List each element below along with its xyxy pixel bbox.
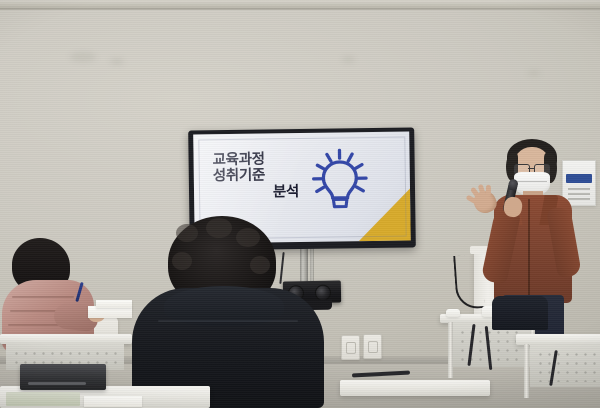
papers xyxy=(84,396,142,407)
glasses-bridge xyxy=(528,168,534,169)
slide-title-line-3: 분석 xyxy=(213,184,299,202)
wall-outlet-plate-right xyxy=(363,334,382,359)
attendee-black-hoodie xyxy=(128,216,348,408)
quilt-seam xyxy=(12,296,74,298)
desk-center-right xyxy=(340,380,490,396)
attendee-right-partial xyxy=(492,296,548,330)
hair-curl xyxy=(172,252,192,270)
wall-smudge xyxy=(342,56,355,63)
slide-title-line-1: 교육과정 xyxy=(212,152,264,169)
desk-leg xyxy=(448,322,453,378)
desk-left xyxy=(0,334,132,344)
slide-title-line-2: 성취기준 xyxy=(213,168,265,185)
desk-object xyxy=(446,309,460,317)
wall-smudge xyxy=(70,52,96,62)
dark-desk-device xyxy=(20,364,106,390)
hair-curl xyxy=(176,224,198,242)
desk-right-front-panel xyxy=(530,345,600,387)
finger xyxy=(486,185,491,196)
hair-curl xyxy=(236,228,260,247)
wall-smudge xyxy=(110,58,124,65)
wall-smudge xyxy=(528,70,540,76)
desk-leg xyxy=(524,344,529,398)
slide-corner-triangle xyxy=(358,188,411,241)
hair-curl xyxy=(206,218,232,238)
papers xyxy=(96,300,132,308)
classroom-photo: 교육과정 성취기준 분석 xyxy=(0,0,600,408)
hoodie-seam xyxy=(158,320,298,322)
slide-title: 교육과정 성취기준 분석 xyxy=(212,151,299,201)
hair-curl xyxy=(250,256,270,274)
papers xyxy=(6,392,80,406)
